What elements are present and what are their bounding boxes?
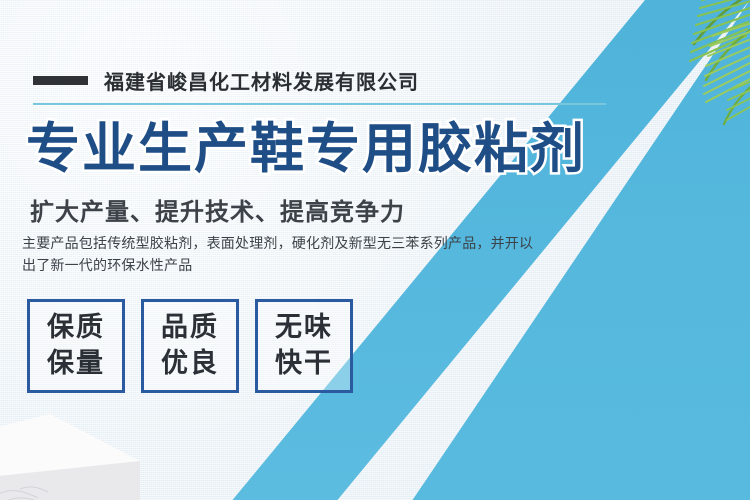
description-line-2: 出了新一代的环保水性产品: [22, 254, 612, 276]
banner-content: 福建省峻昌化工材料发展有限公司 专业生产鞋专用胶粘剂 扩大产量、提升技术、提高竞…: [0, 0, 750, 500]
headline: 专业生产鞋专用胶粘剂: [26, 122, 586, 176]
brand-line: 福建省峻昌化工材料发展有限公司: [33, 66, 419, 95]
description-line-1: 主要产品包括传统型胶粘剂，表面处理剂，硬化剂及新型无三苯系列产品，并开以: [22, 232, 612, 254]
horizontal-divider: [33, 103, 606, 105]
badge-line-bottom: 优良: [161, 347, 219, 381]
feature-badge: 品质 优良: [141, 299, 239, 393]
dash-mark-icon: [33, 76, 88, 85]
badge-line-top: 无味: [275, 311, 333, 345]
feature-badge: 无味 快干: [255, 299, 353, 393]
description-text: 主要产品包括传统型胶粘剂，表面处理剂，硬化剂及新型无三苯系列产品，并开以 出了新…: [22, 232, 612, 276]
badge-line-bottom: 快干: [275, 347, 333, 381]
badge-line-top: 品质: [161, 311, 219, 345]
badge-line-top: 保质: [47, 311, 105, 345]
feature-badge: 保质 保量: [27, 299, 125, 393]
company-name: 福建省峻昌化工材料发展有限公司: [104, 66, 419, 95]
subheadline: 扩大产量、提升技术、提高竞争力: [30, 192, 405, 227]
badge-line-bottom: 保量: [47, 347, 105, 381]
promotional-banner: 福建省峻昌化工材料发展有限公司 专业生产鞋专用胶粘剂 扩大产量、提升技术、提高竞…: [0, 0, 750, 500]
feature-badges: 保质 保量 品质 优良 无味 快干: [27, 299, 353, 393]
